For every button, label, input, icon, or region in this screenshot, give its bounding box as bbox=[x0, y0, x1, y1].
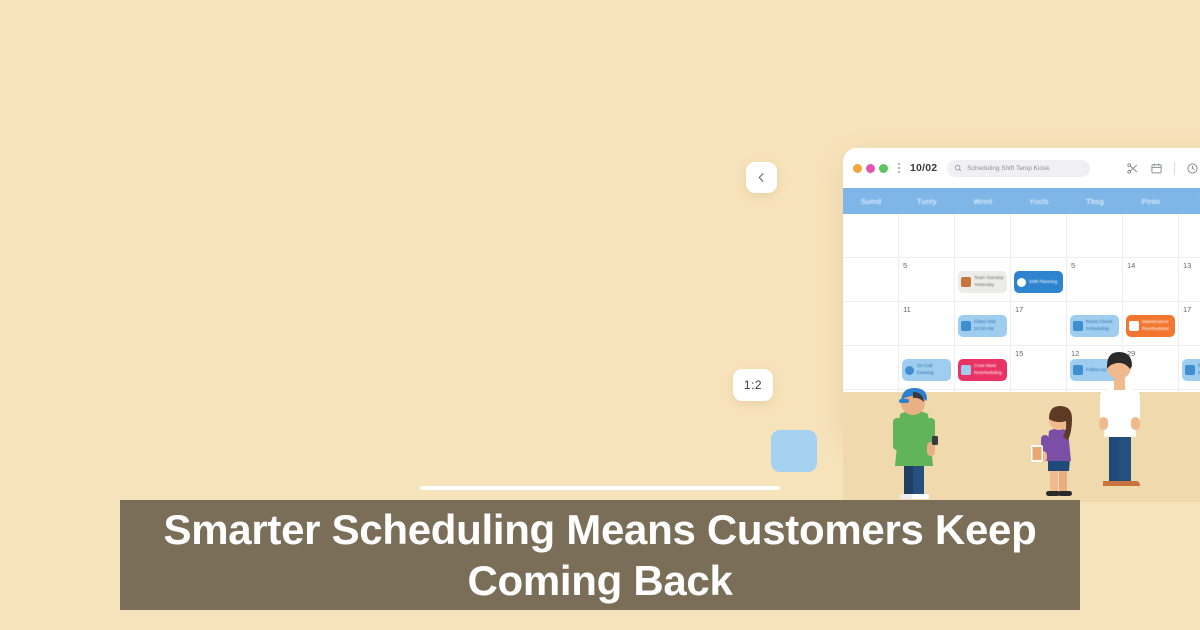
event-title: Shift Planning bbox=[1029, 279, 1057, 284]
window-traffic-lights[interactable] bbox=[853, 164, 888, 173]
calendar-day-cell[interactable]: 5 bbox=[1067, 258, 1123, 302]
event-avatar-icon bbox=[1073, 321, 1083, 331]
event-subtitle: Yesterday bbox=[974, 282, 994, 287]
weekday-header-row: Sumd Tunty Wnnt Yucls Tbsg Pinto Tafv bbox=[843, 188, 1200, 214]
day-number: 17 bbox=[1183, 305, 1200, 314]
person-with-tablet-illustration bbox=[1030, 395, 1084, 500]
event-avatar-icon bbox=[961, 365, 971, 375]
prev-month-button[interactable] bbox=[746, 162, 777, 193]
calendar-day-cell[interactable]: Crew MeetRescheduling bbox=[955, 346, 1011, 390]
calendar-day-cell[interactable] bbox=[1179, 214, 1200, 258]
event-text: Crew MeetRescheduling bbox=[974, 363, 1002, 376]
headline-overlay-bar: Smarter Scheduling Means Customers Keep … bbox=[120, 500, 1080, 610]
calendar-event-chip[interactable]: Team StandupYesterday bbox=[958, 271, 1007, 293]
maximize-light-icon[interactable] bbox=[879, 164, 888, 173]
day-number: 13 bbox=[1183, 261, 1200, 270]
person-with-phone-illustration bbox=[880, 370, 942, 500]
weekday-label: Yucls bbox=[1011, 188, 1067, 214]
search-icon bbox=[954, 164, 962, 172]
event-avatar-icon bbox=[961, 321, 971, 331]
event-avatar-icon bbox=[961, 277, 971, 287]
event-subtitle: 10:30 AM bbox=[974, 326, 993, 331]
weekday-label: Tunty bbox=[899, 188, 955, 214]
clock-icon[interactable] bbox=[1186, 162, 1199, 175]
event-avatar-icon bbox=[1073, 365, 1083, 375]
calendar-day-cell[interactable]: Shift Planning bbox=[1011, 258, 1067, 302]
person-standing-illustration bbox=[1090, 345, 1148, 500]
calendar-day-cell[interactable] bbox=[843, 214, 899, 258]
calendar-event-chip[interactable]: Shift Planning bbox=[1014, 271, 1063, 293]
blue-tile-swatch[interactable] bbox=[771, 430, 817, 472]
calendar-day-cell[interactable] bbox=[843, 258, 899, 302]
calendar-day-cell[interactable]: 14 bbox=[1123, 258, 1179, 302]
weekday-label: Pinto bbox=[1123, 188, 1179, 214]
calendar-day-cell[interactable] bbox=[899, 214, 955, 258]
minimize-light-icon[interactable] bbox=[866, 164, 875, 173]
calendar-icon[interactable] bbox=[1150, 162, 1163, 175]
day-number: 17 bbox=[1015, 305, 1066, 314]
calendar-day-cell[interactable]: Route CheckScheduling bbox=[1067, 302, 1123, 346]
day-number: 5 bbox=[903, 261, 954, 270]
close-light-icon[interactable] bbox=[853, 164, 862, 173]
poster-canvas: 10/02 Scheduling Shift Temp Kiosk bbox=[0, 0, 1200, 630]
event-text: Route CheckScheduling bbox=[1086, 319, 1113, 332]
weekday-label: Tbsg bbox=[1067, 188, 1123, 214]
calendar-day-cell[interactable]: 13 bbox=[1179, 258, 1200, 302]
event-avatar-icon bbox=[1129, 321, 1139, 331]
scissors-icon[interactable] bbox=[1126, 162, 1139, 175]
day-number: 14 bbox=[1127, 261, 1178, 270]
page-title: Smarter Scheduling Means Customers Keep … bbox=[134, 504, 1066, 606]
kebab-menu-icon[interactable] bbox=[894, 161, 904, 175]
search-input[interactable]: Scheduling Shift Temp Kiosk bbox=[947, 160, 1090, 177]
event-title: On Call bbox=[917, 363, 932, 368]
event-subtitle: Rescheduled bbox=[1142, 326, 1169, 331]
calendar-day-cell[interactable]: 17 bbox=[1011, 302, 1067, 346]
calendar-day-cell[interactable]: 11 bbox=[899, 302, 955, 346]
day-number: 15 bbox=[1015, 349, 1066, 358]
weekday-label: Sumd bbox=[843, 188, 899, 214]
calendar-event-chip[interactable]: ReminderWeekly bbox=[1182, 359, 1200, 381]
toolbar-date-label: 10/02 bbox=[910, 162, 937, 174]
day-number: 11 bbox=[903, 305, 954, 314]
calendar-event-chip[interactable]: Client Visit10:30 AM bbox=[958, 315, 1007, 337]
calendar-day-cell[interactable]: Client Visit10:30 AM bbox=[955, 302, 1011, 346]
ratio-badge[interactable]: 1:2 bbox=[733, 369, 773, 401]
calendar-event-chip[interactable]: Route CheckScheduling bbox=[1070, 315, 1119, 337]
app-toolbar: 10/02 Scheduling Shift Temp Kiosk bbox=[843, 148, 1200, 188]
event-title: Maintenance bbox=[1142, 319, 1168, 324]
search-placeholder: Scheduling Shift Temp Kiosk bbox=[967, 165, 1049, 172]
calendar-day-cell[interactable]: MaintenanceRescheduled bbox=[1123, 302, 1179, 346]
calendar-day-cell[interactable]: Team StandupYesterday bbox=[955, 258, 1011, 302]
event-title: Crew Meet bbox=[974, 363, 996, 368]
calendar-event-chip[interactable]: Crew MeetRescheduling bbox=[958, 359, 1007, 381]
weekday-label: Wnnt bbox=[955, 188, 1011, 214]
chevron-left-icon bbox=[756, 172, 767, 183]
calendar-day-cell[interactable] bbox=[1067, 214, 1123, 258]
event-text: Client Visit10:30 AM bbox=[974, 319, 996, 332]
calendar-day-cell[interactable]: 5 bbox=[899, 258, 955, 302]
calendar-day-cell[interactable] bbox=[1123, 214, 1179, 258]
event-title: Route Check bbox=[1086, 319, 1113, 324]
event-subtitle: Rescheduling bbox=[974, 370, 1002, 375]
weekday-label: Tafv bbox=[1179, 188, 1200, 214]
event-text: Shift Planning bbox=[1029, 279, 1057, 286]
calendar-day-cell[interactable]: 15 bbox=[1011, 346, 1067, 390]
calendar-day-cell[interactable] bbox=[843, 302, 899, 346]
event-text: MaintenanceRescheduled bbox=[1142, 319, 1169, 332]
toolbar-actions bbox=[1126, 162, 1200, 175]
event-title: Client Visit bbox=[974, 319, 996, 324]
calendar-day-cell[interactable]: ReminderWeekly bbox=[1179, 346, 1200, 390]
day-number: 5 bbox=[1071, 261, 1122, 270]
calendar-day-cell[interactable] bbox=[955, 214, 1011, 258]
event-avatar-icon bbox=[1185, 365, 1195, 375]
calendar-day-cell[interactable]: 17 bbox=[1179, 302, 1200, 346]
calendar-event-chip[interactable]: MaintenanceRescheduled bbox=[1126, 315, 1175, 337]
ratio-badge-label: 1:2 bbox=[744, 378, 762, 392]
event-subtitle: Scheduling bbox=[1086, 326, 1109, 331]
white-rule-divider bbox=[420, 486, 780, 490]
event-title: Team Standup bbox=[974, 275, 1004, 280]
calendar-day-cell[interactable] bbox=[1011, 214, 1067, 258]
event-text: Team StandupYesterday bbox=[974, 275, 1004, 288]
toolbar-separator bbox=[1174, 162, 1175, 175]
event-dot-icon bbox=[1017, 278, 1026, 287]
